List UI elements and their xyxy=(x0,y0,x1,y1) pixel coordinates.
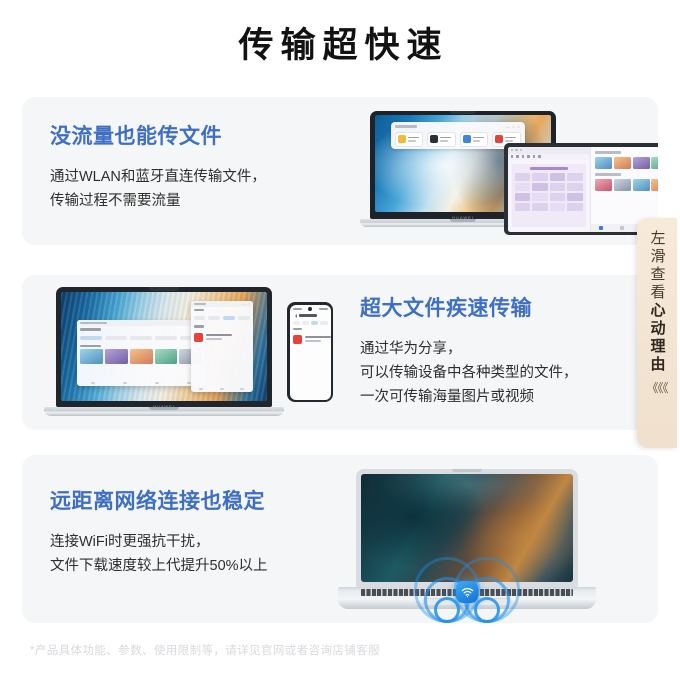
laptop-camera-notch xyxy=(450,111,476,114)
laptop-device-card-3 xyxy=(356,469,578,609)
filter-tabs xyxy=(191,313,253,323)
brand-mark: HUAWEI xyxy=(153,404,175,409)
gallery-grid xyxy=(591,179,658,191)
tablet-document-pane xyxy=(508,147,591,232)
phone-filter-tabs xyxy=(290,318,331,325)
laptop-screen: — □ × xyxy=(61,292,267,401)
gallery-section-title xyxy=(595,173,621,176)
phone-camera-icon xyxy=(308,307,312,311)
card-3-body-line-1: 连接WiFi时更强抗干扰， xyxy=(50,530,268,554)
card-3-body: 连接WiFi时更强抗干扰， 文件下载速度较上代提升50%以上 xyxy=(50,530,268,578)
share-target-item xyxy=(460,132,488,147)
phone-section-label xyxy=(293,328,302,330)
laptop-camera-notch xyxy=(452,469,482,472)
document-content-grid xyxy=(515,173,584,211)
window-titlebar: — □ × xyxy=(77,320,205,326)
document-heading xyxy=(530,167,568,170)
back-arrow-icon xyxy=(293,314,297,318)
folder-icon xyxy=(398,135,406,143)
window-controls-icon: — □ × xyxy=(506,125,521,129)
share-target-item xyxy=(427,132,455,147)
tablet-screen xyxy=(508,147,659,232)
gallery-section-title xyxy=(595,151,621,154)
side-tab-label-strong: 心动理由 xyxy=(648,302,667,374)
phone-app-header xyxy=(290,311,331,318)
document-sheet xyxy=(512,164,587,227)
side-tab-label-normal: 左滑查看 xyxy=(648,230,667,302)
thumbnail-grid xyxy=(77,349,205,364)
tablet-device-card-1 xyxy=(504,143,658,235)
window-footer xyxy=(77,382,205,384)
feature-card-1: 没流量也能传文件 通过WLAN和蓝牙直连传输文件， 传输过程不需要流量 — □ … xyxy=(22,97,658,245)
gallery-grid xyxy=(591,157,658,169)
share-panel-title xyxy=(395,125,418,128)
card-1-text: 没流量也能传文件 通过WLAN和蓝牙直连传输文件， 传输过程不需要流量 xyxy=(50,123,266,213)
document-titlebar xyxy=(508,147,591,154)
footnote-disclaimer: *产品具体功能、参数、使用限制等，请详见官网或者咨询店铺客服 xyxy=(30,642,380,658)
feature-card-2: 超大文件疾速传输 通过华为分享， 可以传输设备中各种类型的文件， 一次可传输海量… xyxy=(22,275,658,430)
file-list-item xyxy=(191,330,253,345)
window-footer xyxy=(191,388,253,390)
phone-screen xyxy=(290,305,331,400)
card-2-body-line-2: 可以传输设备中各种类型的文件， xyxy=(360,361,578,385)
card-3-heading: 远距离网络连接也稳定 xyxy=(50,488,268,516)
card-3-text: 远距离网络连接也稳定 连接WiFi时更强抗干扰， 文件下载速度较上代提升50%以… xyxy=(50,488,268,578)
card-2-body-line-1: 通过华为分享， xyxy=(360,337,578,361)
card-2-body-line-3: 一次可传输海量图片或视频 xyxy=(360,385,578,409)
chevron-left-icon: 《《《 xyxy=(646,379,667,396)
device-icon xyxy=(430,135,438,143)
card-1-body-line-2: 传输过程不需要流量 xyxy=(50,189,266,213)
wifi-icon xyxy=(456,581,478,603)
brand-mark: HUAWEI xyxy=(452,215,474,220)
filter-tabs xyxy=(77,333,205,343)
signal-arc xyxy=(474,597,500,623)
page-title: 传输超快速 xyxy=(0,24,680,68)
card-2-text: 超大文件疾速传输 通过华为分享， 可以传输设备中各种类型的文件， 一次可传输海量… xyxy=(360,295,578,409)
pdf-file-icon xyxy=(293,335,302,344)
section-label xyxy=(194,309,204,312)
laptop-camera-notch xyxy=(149,287,179,291)
card-1-heading: 没流量也能传文件 xyxy=(50,123,266,151)
feature-card-3: 远距离网络连接也稳定 连接WiFi时更强抗干扰， 文件下载速度较上代提升50%以… xyxy=(22,455,658,623)
laptop-device-card-2: — □ × xyxy=(56,287,272,417)
wifi-signal-graphic xyxy=(392,563,542,609)
document-toolbar xyxy=(508,154,591,160)
pdf-icon xyxy=(495,135,503,143)
side-swipe-tab[interactable]: 左滑查看 心动理由 《《《 xyxy=(637,218,677,448)
section-label xyxy=(80,328,100,331)
card-3-body-line-2: 文件下载速度较上代提升50%以上 xyxy=(50,554,268,578)
bluetooth-icon xyxy=(463,135,471,143)
card-2-body: 通过华为分享， 可以传输设备中各种类型的文件， 一次可传输海量图片或视频 xyxy=(360,337,578,409)
share-list-window: — × xyxy=(191,301,253,393)
file-list-item xyxy=(290,332,331,347)
promo-page: 传输超快速 没流量也能传文件 通过WLAN和蓝牙直连传输文件， 传输过程不需要流… xyxy=(0,0,680,680)
file-manager-window: — □ × xyxy=(77,320,205,385)
section-label xyxy=(80,345,100,348)
card-1-body-line-1: 通过WLAN和蓝牙直连传输文件， xyxy=(50,165,266,189)
laptop-lid: — □ × xyxy=(56,287,272,407)
share-target-row xyxy=(395,132,521,147)
card-1-body: 通过WLAN和蓝牙直连传输文件， 传输过程不需要流量 xyxy=(50,165,266,213)
window-titlebar: — × xyxy=(191,301,253,307)
phone-device-card-2 xyxy=(287,302,333,402)
card-2-heading: 超大文件疾速传输 xyxy=(360,295,578,323)
share-target-item xyxy=(395,132,423,147)
section-label xyxy=(194,325,204,328)
pdf-file-icon xyxy=(194,333,203,342)
